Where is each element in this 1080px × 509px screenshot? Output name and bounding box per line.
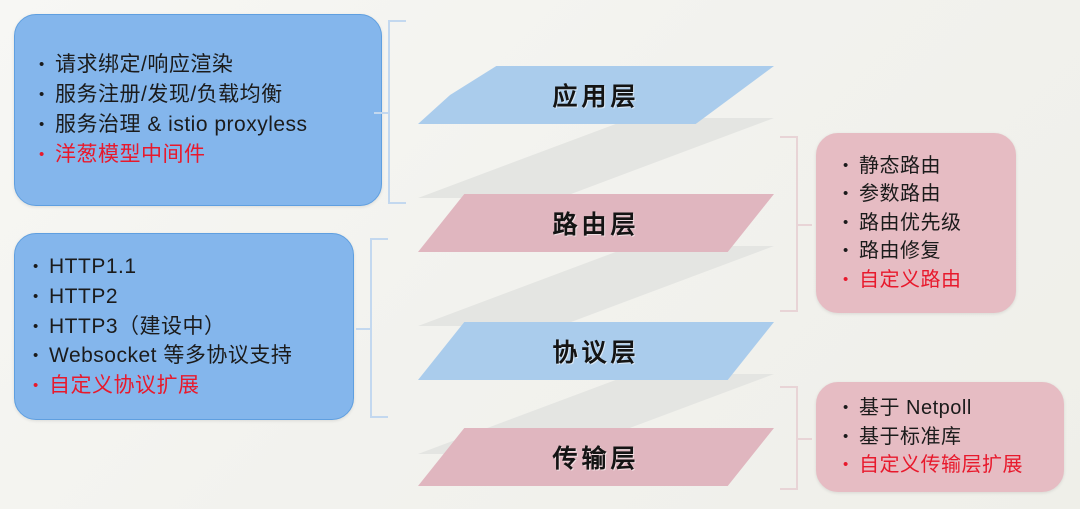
bracket-arm-top xyxy=(780,386,798,388)
list-item: • HTTP1.1 xyxy=(33,252,353,282)
feature-box-transport: • 基于 Netpoll • 基于标准库 • 自定义传输层扩展 xyxy=(816,382,1064,492)
bracket-arm-bottom xyxy=(780,488,798,490)
list-item-label: 静态路由 xyxy=(859,152,941,180)
layer-stack: 应用层 路由层 协议层 传输层 xyxy=(418,66,774,486)
bullet-icon: • xyxy=(33,319,49,334)
list-item-label: 路由修复 xyxy=(859,237,941,265)
list-item-label: 自定义协议扩展 xyxy=(49,371,200,401)
list-item-label: Websocket 等多协议支持 xyxy=(49,341,292,371)
list-item: • 路由修复 xyxy=(843,237,1015,265)
bullet-icon: • xyxy=(843,243,859,258)
bullet-icon: • xyxy=(843,429,859,444)
list-item: • HTTP3（建设中） xyxy=(33,312,353,342)
list-item-label: 路由优先级 xyxy=(859,209,962,237)
bullet-icon: • xyxy=(843,215,859,230)
bracket-arm-bottom xyxy=(370,416,388,418)
list-item-label: 服务注册/发现/负载均衡 xyxy=(55,80,283,110)
bracket-arm-top xyxy=(370,238,388,240)
bullet-icon: • xyxy=(39,147,55,162)
bracket-application xyxy=(388,20,410,204)
bracket-route xyxy=(776,136,798,312)
list-item: • HTTP2 xyxy=(33,282,353,312)
layer-route[interactable]: 路由层 xyxy=(418,194,774,252)
list-item-label: 自定义传输层扩展 xyxy=(859,451,1023,479)
bracket-protocol xyxy=(370,238,392,418)
bracket-stem xyxy=(798,438,812,440)
bullet-icon: • xyxy=(843,186,859,201)
connector-route-to-protocol xyxy=(418,246,774,326)
bracket-stem xyxy=(356,328,370,330)
list-item: • 服务注册/发现/负载均衡 xyxy=(39,80,381,110)
list-item: • 基于标准库 xyxy=(843,423,1063,451)
bracket-arm-top xyxy=(388,20,406,22)
list-item-label: 基于标准库 xyxy=(859,423,962,451)
layer-transport[interactable]: 传输层 xyxy=(418,428,774,486)
bullet-icon: • xyxy=(33,289,49,304)
list-item: • 洋葱模型中间件 xyxy=(39,140,381,170)
feature-box-protocol: • HTTP1.1 • HTTP2 • HTTP3（建设中） • Websock… xyxy=(14,233,354,420)
layer-transport-label: 传输层 xyxy=(418,428,774,486)
layer-application-label: 应用层 xyxy=(418,66,774,124)
bracket-spine xyxy=(370,238,372,418)
layer-route-label: 路由层 xyxy=(418,194,774,252)
list-item: • 基于 Netpoll xyxy=(843,394,1063,422)
bracket-arm-bottom xyxy=(388,202,406,204)
connector-app-to-route xyxy=(418,118,774,198)
list-item: • 自定义传输层扩展 xyxy=(843,451,1063,479)
bullet-icon: • xyxy=(843,457,859,472)
bullet-icon: • xyxy=(39,87,55,102)
layer-protocol-label: 协议层 xyxy=(418,322,774,380)
bullet-icon: • xyxy=(39,57,55,72)
bracket-stem xyxy=(374,112,388,114)
layer-application[interactable]: 应用层 xyxy=(418,66,774,124)
list-item-label: HTTP3（建设中） xyxy=(49,312,226,342)
bullet-icon: • xyxy=(843,400,859,415)
bullet-icon: • xyxy=(33,378,49,393)
bullet-icon: • xyxy=(39,117,55,132)
list-item: • 路由优先级 xyxy=(843,209,1015,237)
list-item-label: 洋葱模型中间件 xyxy=(55,140,206,170)
list-item: • Websocket 等多协议支持 xyxy=(33,341,353,371)
list-item-label: HTTP2 xyxy=(49,282,118,312)
bracket-arm-top xyxy=(780,136,798,138)
bracket-arm-bottom xyxy=(780,310,798,312)
list-item-label: 服务治理 & istio proxyless xyxy=(55,110,308,140)
bullet-icon: • xyxy=(33,259,49,274)
bullet-icon: • xyxy=(33,348,49,363)
list-item: • 自定义协议扩展 xyxy=(33,371,353,401)
bracket-transport xyxy=(776,386,798,490)
list-item: • 自定义路由 xyxy=(843,266,1015,294)
list-item: • 参数路由 xyxy=(843,180,1015,208)
list-item: • 请求绑定/响应渲染 xyxy=(39,50,381,80)
list-item-label: 请求绑定/响应渲染 xyxy=(55,50,233,80)
bullet-icon: • xyxy=(843,158,859,173)
list-item-label: 自定义路由 xyxy=(859,266,962,294)
bullet-icon: • xyxy=(843,272,859,287)
list-item-label: 参数路由 xyxy=(859,180,941,208)
bracket-spine xyxy=(388,20,390,204)
feature-box-route: • 静态路由 • 参数路由 • 路由优先级 • 路由修复 • 自定义路由 xyxy=(816,133,1016,313)
list-item: • 服务治理 & istio proxyless xyxy=(39,110,381,140)
list-item-label: HTTP1.1 xyxy=(49,252,137,282)
layer-protocol[interactable]: 协议层 xyxy=(418,322,774,380)
bracket-stem xyxy=(798,224,812,226)
feature-box-application: • 请求绑定/响应渲染 • 服务注册/发现/负载均衡 • 服务治理 & isti… xyxy=(14,14,382,206)
list-item: • 静态路由 xyxy=(843,152,1015,180)
diagram-canvas: 应用层 路由层 协议层 传输层 • 请求绑定/响应渲染 • 服务注册/发现/负载… xyxy=(0,0,1080,509)
list-item-label: 基于 Netpoll xyxy=(859,394,972,422)
